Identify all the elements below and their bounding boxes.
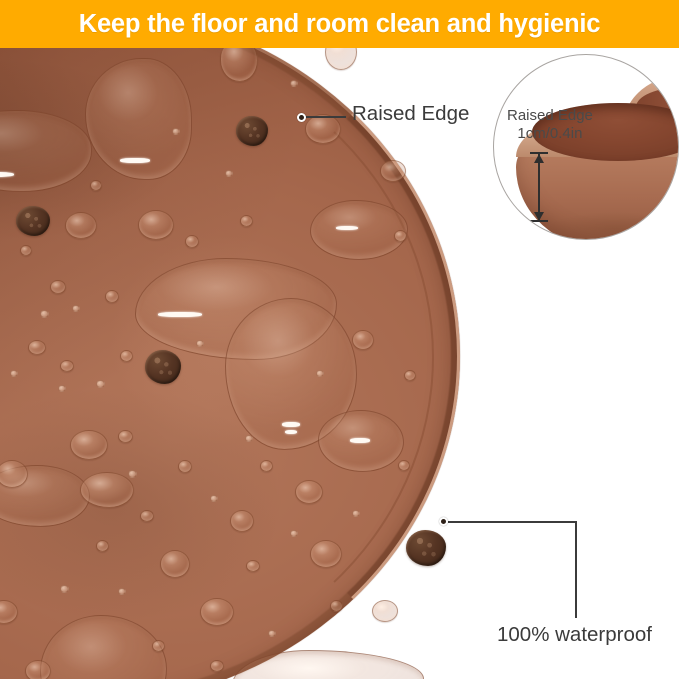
dimension-line [538,153,540,221]
inset-caption-measurement: 1cm/0.4in [507,125,593,143]
waterproof-leader-line-vertical [575,521,577,618]
waterproof-anchor-dot [439,517,448,526]
raised-edge-leader-line [306,116,346,118]
raised-edge-detail-inset: Raised Edge 1cm/0.4in [493,54,679,240]
kibble-piece [406,530,446,566]
callout-waterproof-label: 100% waterproof [497,623,652,647]
inset-product-closeup [494,55,678,239]
headline-banner: Keep the floor and room clean and hygien… [0,0,679,48]
dimension-arrowhead-down [534,212,544,221]
dimension-arrowhead-up [534,154,544,163]
callout-raised-edge-label: Raised Edge [352,102,469,126]
inset-caption: Raised Edge 1cm/0.4in [507,107,593,143]
product-feature-image: Keep the floor and room clean and hygien… [0,0,679,679]
headline-text: Keep the floor and room clean and hygien… [0,0,679,48]
raised-edge-anchor-dot [297,113,306,122]
inset-caption-title: Raised Edge [507,107,593,124]
waterproof-leader-line-horizontal [448,521,576,523]
water-droplet [372,600,398,622]
pet-feeding-mat [0,40,520,679]
